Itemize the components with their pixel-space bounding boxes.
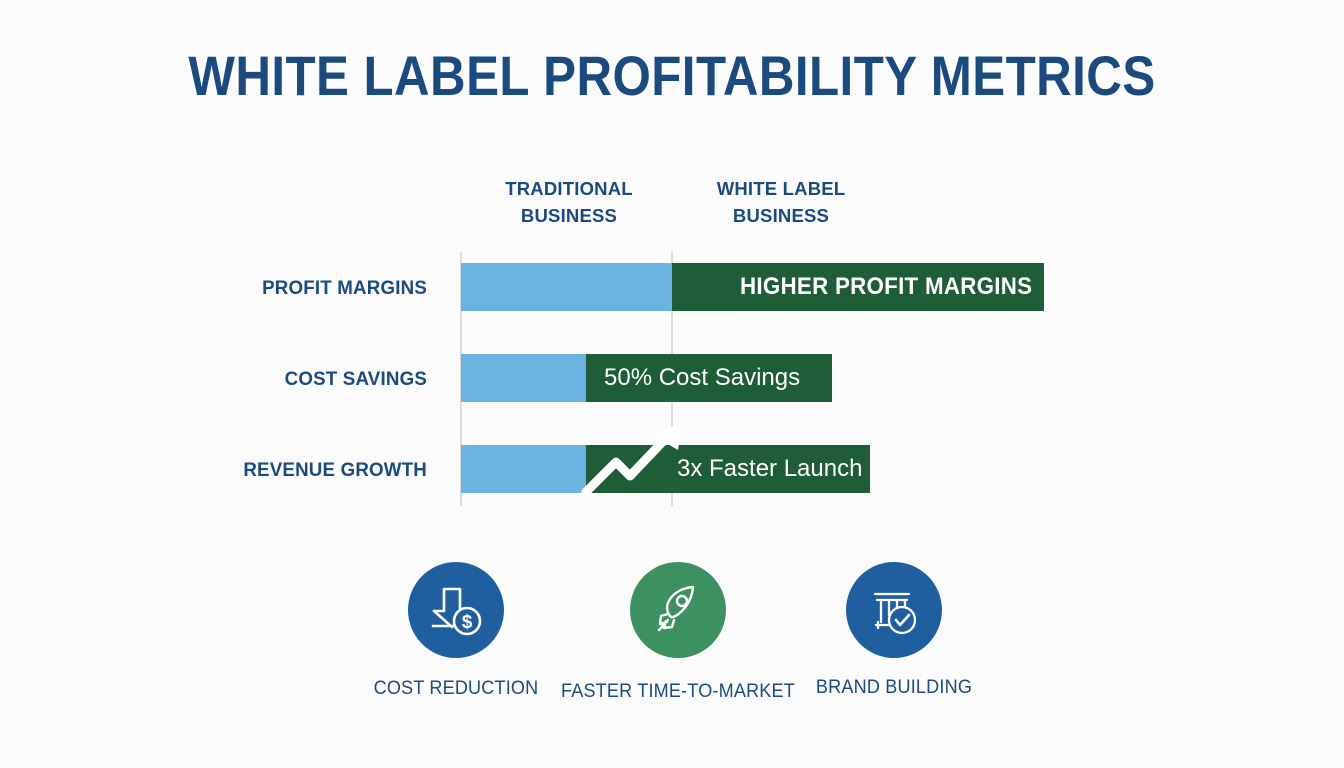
benefits-row: $ COST REDUCTION FASTER TIME-TO-MARKET — [0, 0, 1344, 768]
rocket-icon-circle — [630, 562, 726, 658]
cost-reduction-icon-circle: $ — [408, 562, 504, 658]
brand-building-icon — [865, 581, 923, 639]
benefit-brand-building: BRAND BUILDING — [744, 562, 1044, 699]
brand-building-icon-circle — [846, 562, 942, 658]
svg-text:$: $ — [462, 612, 473, 633]
rocket-icon — [649, 581, 707, 639]
cost-reduction-icon: $ — [425, 579, 487, 641]
benefit-caption-brand-building: BRAND BUILDING — [752, 677, 1037, 699]
